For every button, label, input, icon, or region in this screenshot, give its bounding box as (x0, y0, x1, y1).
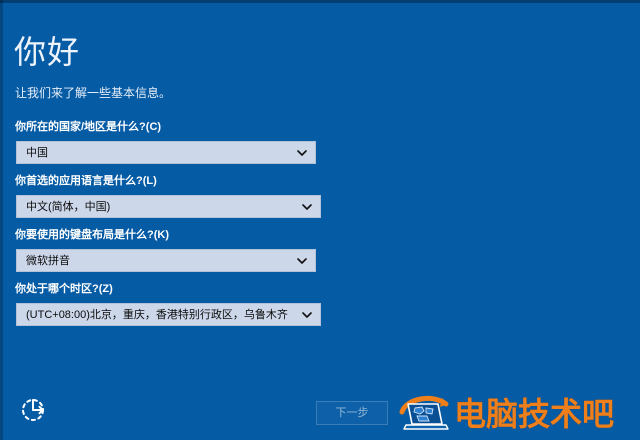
watermark: 电脑技术吧 (396, 392, 614, 436)
chevron-down-icon (302, 310, 312, 320)
keyboard-layout-dropdown[interactable]: 微软拼音 (16, 249, 316, 272)
timezone-dropdown[interactable]: (UTC+08:00)北京，重庆，香港特别行政区，乌鲁木齐 (16, 303, 321, 326)
language-dropdown[interactable]: 中文(简体，中国) (16, 195, 321, 218)
language-dropdown-value: 中文(简体，中国) (17, 200, 320, 214)
timezone-dropdown-value: (UTC+08:00)北京，重庆，香港特别行政区，乌鲁木齐 (17, 308, 320, 322)
laptop-globe-logo-icon (396, 394, 452, 434)
chevron-down-icon (302, 202, 312, 212)
chevron-down-icon (297, 148, 307, 158)
field-country: 你所在的国家/地区是什么?(C) 中国 (0, 120, 340, 164)
field-label-timezone: 你处于哪个时区?(Z) (15, 282, 340, 297)
keyboard-layout-dropdown-value: 微软拼音 (17, 254, 315, 268)
country-dropdown-value: 中国 (17, 146, 315, 160)
field-label-language: 你首选的应用语言是什么?(L) (15, 174, 340, 189)
watermark-text: 电脑技术吧 (454, 395, 614, 433)
field-language: 你首选的应用语言是什么?(L) 中文(简体，中国) (0, 174, 340, 218)
chevron-down-icon (297, 256, 307, 266)
field-keyboard: 你要使用的键盘布局是什么?(K) 微软拼音 (0, 228, 340, 272)
next-button[interactable]: 下一步 (316, 401, 388, 425)
field-label-country: 你所在的国家/地区是什么?(C) (15, 120, 340, 135)
field-label-keyboard: 你要使用的键盘布局是什么?(K) (15, 228, 340, 243)
country-dropdown[interactable]: 中国 (16, 141, 316, 164)
oobe-screen: 你好 让我们来了解一些基本信息。 你所在的国家/地区是什么?(C) 中国 你首选… (0, 0, 640, 440)
page-subtitle: 让我们来了解一些基本信息。 (15, 84, 171, 102)
oobe-form: 你所在的国家/地区是什么?(C) 中国 你首选的应用语言是什么?(L) 中文(简… (0, 120, 340, 336)
page-title: 你好 (14, 32, 80, 72)
ease-of-access-icon[interactable] (16, 392, 50, 426)
field-timezone: 你处于哪个时区?(Z) (UTC+08:00)北京，重庆，香港特别行政区，乌鲁木… (0, 282, 340, 326)
